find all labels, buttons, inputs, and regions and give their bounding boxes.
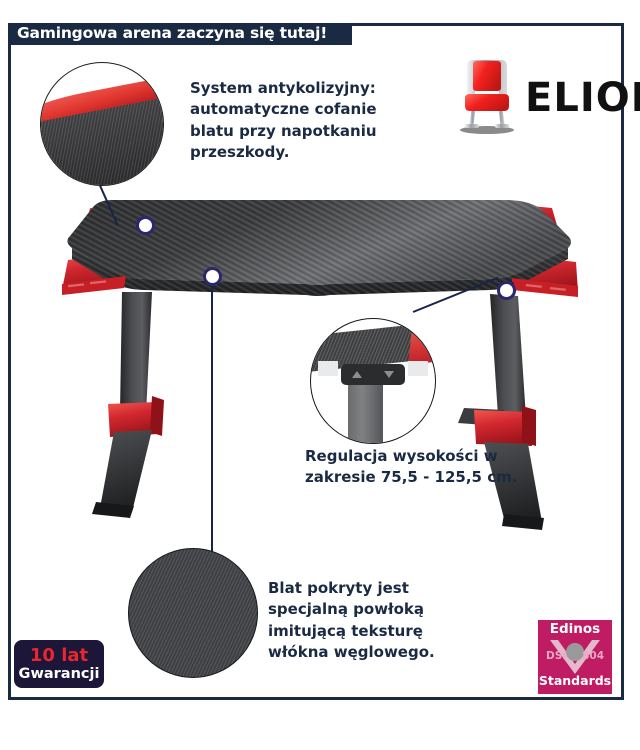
callout-anticollision: System antykolizyjny: automatyczne cofan… — [190, 78, 425, 163]
marker-dot-anticollision[interactable] — [136, 216, 155, 235]
edinos-code-left: DSI — [546, 650, 566, 662]
edinos-code-right: 804 — [582, 650, 604, 662]
marker-dot-carbon[interactable] — [203, 267, 222, 286]
brand-name: ELIOR — [525, 78, 640, 118]
brand-logo[interactable]: ELIOR — [455, 57, 623, 139]
warranty-years: 10 lat — [30, 647, 88, 665]
edinos-name: Edinos — [550, 623, 600, 637]
height-control-panel[interactable] — [341, 364, 405, 385]
marker-dot-height[interactable] — [497, 281, 516, 300]
warranty-badge: 10 lat Gwarancji — [14, 640, 104, 688]
product-infographic: Gamingowa arena zaczyna się tutaj! — [0, 0, 640, 750]
leader-line-carbon — [211, 284, 213, 552]
warranty-label: Gwarancji — [19, 667, 100, 682]
edinos-standards-badge: Edinos DSI 804 Standards — [538, 620, 612, 694]
header-banner: Gamingowa arena zaczyna się tutaj! — [8, 23, 352, 45]
header-title: Gamingowa arena zaczyna się tutaj! — [17, 26, 327, 42]
callout-height-adjustment: Regulacja wysokości w zakresie 75,5 - 12… — [305, 446, 520, 489]
edinos-check-mark: DSI 804 — [544, 638, 606, 678]
arrow-down-icon[interactable] — [384, 371, 394, 378]
callout-carbon-coating: Blat pokryty jest specjalną powłoką imit… — [268, 578, 488, 663]
red-chair-icon — [455, 58, 519, 138]
arrow-up-icon[interactable] — [352, 371, 362, 378]
zoom-bubble-height-control — [310, 318, 436, 444]
zoom-bubble-carbon-texture — [128, 548, 258, 678]
zoom-bubble-desk-edge — [40, 62, 164, 186]
